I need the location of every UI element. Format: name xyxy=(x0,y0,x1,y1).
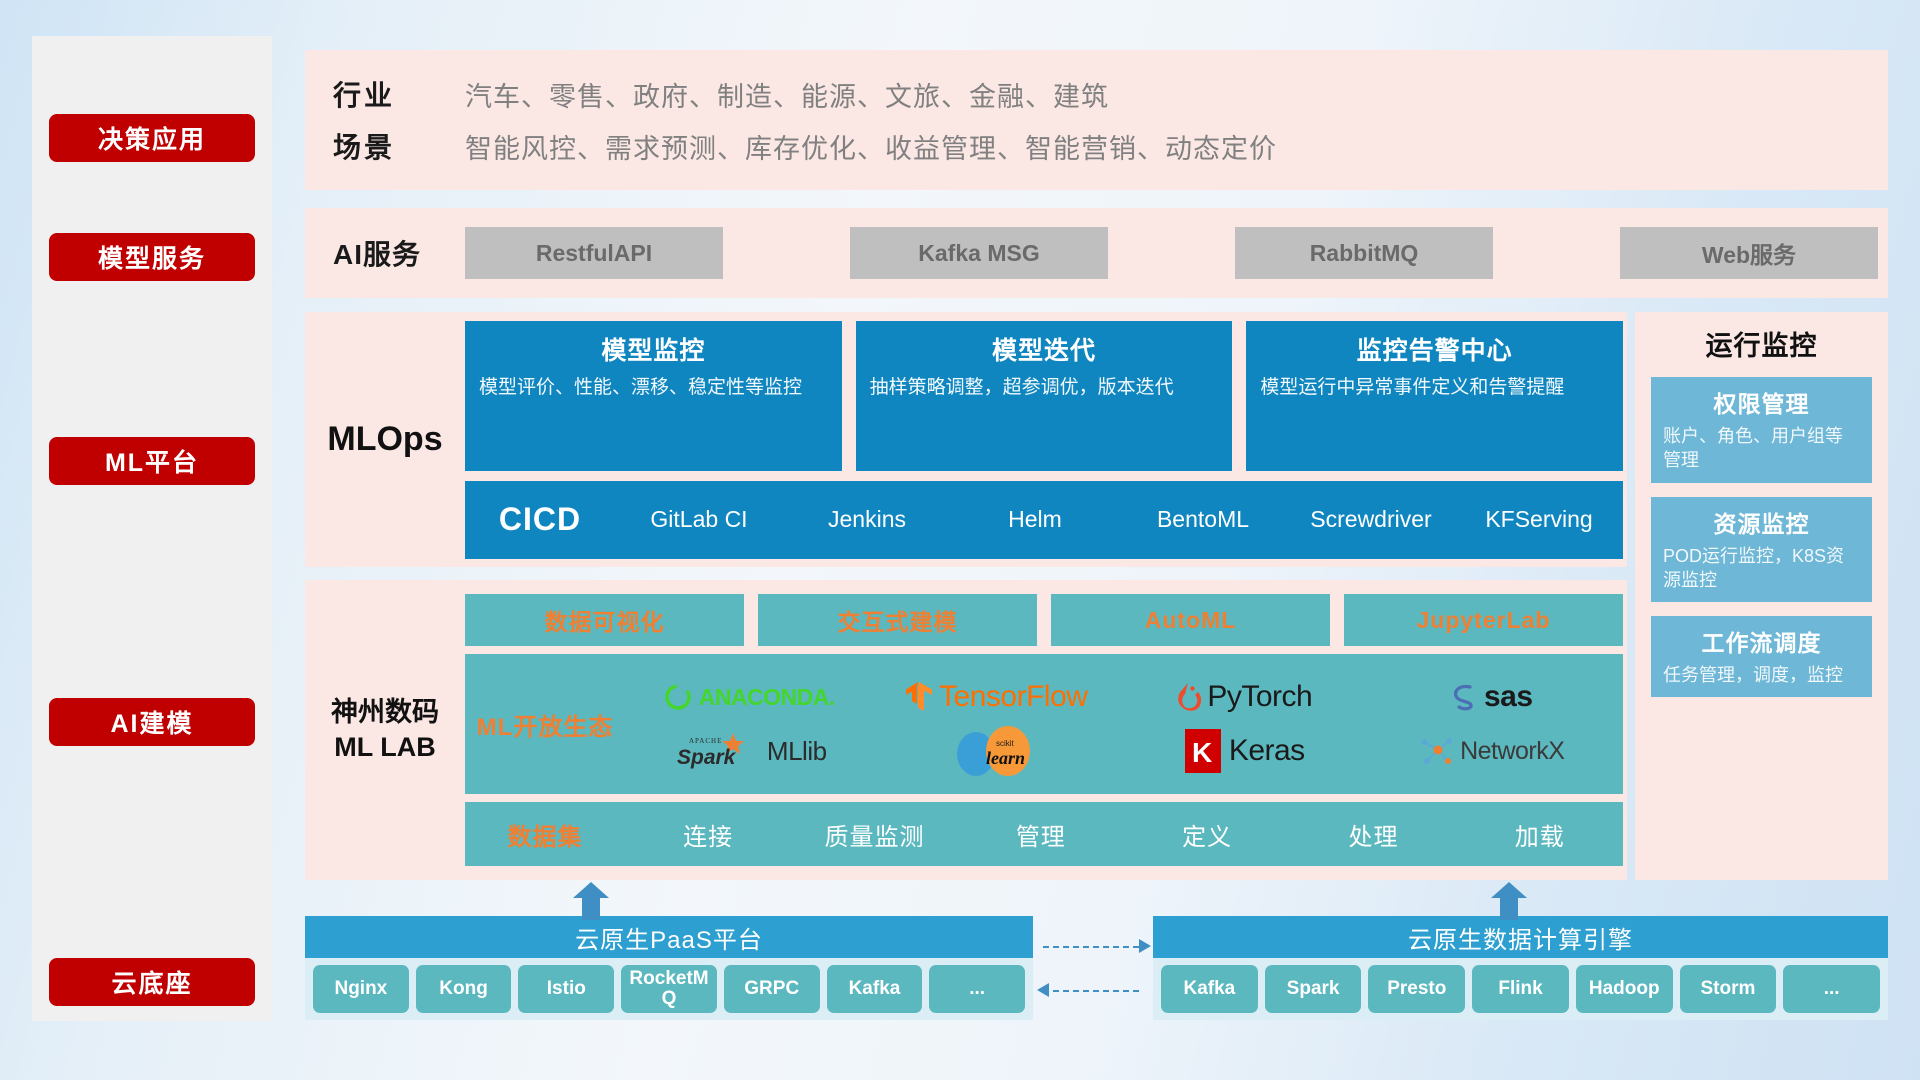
up-arrow-icon-engine xyxy=(1489,882,1529,920)
run-monitoring-panel: 运行监控 权限管理 账户、角色、用户组等管理 资源监控 POD运行监控，K8S资… xyxy=(1635,312,1888,880)
anaconda-wordmark: ANACONDA. xyxy=(699,684,835,711)
card-title: 监控告警中心 xyxy=(1260,331,1609,367)
ml-lab-tool-list: 数据可视化 交互式建模 AutoML JupyterLab xyxy=(465,594,1623,646)
ai-service-chip-web-service[interactable]: Web服务 xyxy=(1620,227,1878,279)
card-title: 工作流调度 xyxy=(1663,624,1860,658)
monitor-card-resource[interactable]: 资源监控 POD运行监控，K8S资源监控 xyxy=(1651,497,1872,603)
architecture-diagram: 行业 汽车、零售、政府、制造、能源、文旅、金融、建筑 场景 智能风控、需求预测、… xyxy=(305,50,1888,1020)
ai-service-chip-restfulapi[interactable]: RestfulAPI xyxy=(465,227,723,279)
tool-chip-data-visualization[interactable]: 数据可视化 xyxy=(465,594,744,646)
industry-label: 行业 xyxy=(333,74,465,114)
dataset-item-processing[interactable]: 处理 xyxy=(1290,817,1456,852)
ml-lab-content: 数据可视化 交互式建模 AutoML JupyterLab ML开放生态 ANA… xyxy=(465,594,1627,866)
dataset-item-connect[interactable]: 连接 xyxy=(625,817,791,852)
engine-chip-storm[interactable]: Storm xyxy=(1680,965,1777,1013)
spark-mllib-logo: APACHE Spark MLlib xyxy=(671,731,827,771)
anaconda-logo: ANACONDA. xyxy=(663,682,835,712)
ml-ecosystem-row: ML开放生态 ANACONDA. TensorFlow xyxy=(465,654,1623,794)
mlops-band: MLOps 模型监控 模型评价、性能、漂移、稳定性等监控 模型迭代 抽样策略调整… xyxy=(305,312,1627,567)
pytorch-wordmark: PyTorch xyxy=(1207,680,1312,714)
apache-spark-mark-icon: APACHE Spark xyxy=(671,731,761,771)
cicd-item-bentoml[interactable]: BentoML xyxy=(1119,507,1287,532)
cloud-chip-grpc[interactable]: GRPC xyxy=(724,965,820,1013)
card-desc: POD运行监控，K8S资源监控 xyxy=(1663,544,1860,593)
card-desc: 账户、角色、用户组等管理 xyxy=(1663,424,1860,473)
cloud-chip-more[interactable]: ... xyxy=(929,965,1025,1013)
mlops-content: 模型监控 模型评价、性能、漂移、稳定性等监控 模型迭代 抽样策略调整，超参调优，… xyxy=(465,321,1627,559)
tensorflow-mark-icon xyxy=(905,681,933,713)
cicd-item-gitlab-ci[interactable]: GitLab CI xyxy=(615,507,783,532)
scenario-label: 场景 xyxy=(333,126,465,166)
dataset-item-management[interactable]: 管理 xyxy=(958,817,1124,852)
scenario-value: 智能风控、需求预测、库存优化、收益管理、智能营销、动态定价 xyxy=(465,127,1277,166)
ml-lab-label-line2: ML LAB xyxy=(305,730,465,765)
cicd-item-screwdriver[interactable]: Screwdriver xyxy=(1287,507,1455,532)
mlops-card-list: 模型监控 模型评价、性能、漂移、稳定性等监控 模型迭代 抽样策略调整，超参调优，… xyxy=(465,321,1623,471)
cloud-native-paas-block: 云原生PaaS平台 Nginx Kong Istio RocketMQ GRPC… xyxy=(305,916,1033,1020)
mlops-card-model-iteration[interactable]: 模型迭代 抽样策略调整，超参调优，版本迭代 xyxy=(856,321,1233,471)
cloud-engine-chip-list: Kafka Spark Presto Flink Hadoop Storm ..… xyxy=(1153,958,1888,1020)
cloud-connector-arrows xyxy=(1035,934,1153,1004)
tool-chip-jupyterlab[interactable]: JupyterLab xyxy=(1344,594,1623,646)
cloud-paas-chip-list: Nginx Kong Istio RocketMQ GRPC Kafka ... xyxy=(305,958,1033,1020)
pytorch-logo: PyTorch xyxy=(1175,680,1312,714)
cicd-item-jenkins[interactable]: Jenkins xyxy=(783,507,951,532)
tensorflow-logo: TensorFlow xyxy=(905,680,1087,714)
svg-text:learn: learn xyxy=(986,748,1025,768)
dataset-item-quality-monitoring[interactable]: 质量监测 xyxy=(791,817,957,852)
mlops-label: MLOps xyxy=(305,420,465,459)
mlops-card-alert-center[interactable]: 监控告警中心 模型运行中异常事件定义和告警提醒 xyxy=(1246,321,1623,471)
svg-text:APACHE: APACHE xyxy=(689,737,722,745)
layer-rail: 决策应用 模型服务 ML平台 AI建模 云底座 xyxy=(32,36,272,1021)
cicd-label: CICD xyxy=(465,501,615,538)
mlops-card-model-monitoring[interactable]: 模型监控 模型评价、性能、漂移、稳定性等监控 xyxy=(465,321,842,471)
tool-chip-interactive-modeling[interactable]: 交互式建模 xyxy=(758,594,1037,646)
ai-service-chip-list: RestfulAPI Kafka MSG RabbitMQ Web服务 xyxy=(465,227,1888,279)
cloud-base-zone: 云原生PaaS平台 Nginx Kong Istio RocketMQ GRPC… xyxy=(305,898,1888,1020)
cicd-item-list: GitLab CI Jenkins Helm BentoML Screwdriv… xyxy=(615,507,1623,532)
arrow-head-right-icon xyxy=(1139,939,1151,953)
card-desc: 模型运行中异常事件定义和告警提醒 xyxy=(1260,375,1609,401)
sas-logo: sas xyxy=(1450,680,1533,714)
cloud-chip-rocketmq[interactable]: RocketMQ xyxy=(621,965,717,1013)
dataset-item-list: 连接 质量监测 管理 定义 处理 加载 xyxy=(625,817,1623,852)
monitor-card-permission[interactable]: 权限管理 账户、角色、用户组等管理 xyxy=(1651,377,1872,483)
industry-row: 行业 汽车、零售、政府、制造、能源、文旅、金融、建筑 xyxy=(333,68,1888,120)
dataset-label: 数据集 xyxy=(465,817,625,852)
cicd-item-kfserving[interactable]: KFServing xyxy=(1455,507,1623,532)
ai-service-chip-rabbitmq[interactable]: RabbitMQ xyxy=(1235,227,1493,279)
engine-chip-kafka[interactable]: Kafka xyxy=(1161,965,1258,1013)
dataset-item-loading[interactable]: 加载 xyxy=(1457,817,1623,852)
scenario-row: 场景 智能风控、需求预测、库存优化、收益管理、智能营销、动态定价 xyxy=(333,120,1888,172)
ml-ecosystem-logo-grid: ANACONDA. TensorFlow xyxy=(625,670,1623,778)
card-desc: 抽样策略调整，超参调优，版本迭代 xyxy=(870,375,1219,401)
dataset-item-definition[interactable]: 定义 xyxy=(1124,817,1290,852)
cloud-paas-title: 云原生PaaS平台 xyxy=(305,916,1033,958)
cloud-chip-kong[interactable]: Kong xyxy=(416,965,512,1013)
tool-chip-automl[interactable]: AutoML xyxy=(1051,594,1330,646)
networkx-logo: NetworkX xyxy=(1418,734,1564,768)
keras-mark-icon: K xyxy=(1183,728,1223,774)
card-title: 模型迭代 xyxy=(870,331,1219,367)
scikit-learn-mark-icon: scikit learn xyxy=(950,724,1042,778)
rail-item-model-service[interactable]: 模型服务 xyxy=(49,233,255,281)
ml-lab-band: 神州数码 ML LAB 数据可视化 交互式建模 AutoML JupyterLa… xyxy=(305,580,1627,880)
pytorch-flame-icon xyxy=(1175,681,1201,713)
ml-lab-label: 神州数码 ML LAB xyxy=(305,695,465,765)
up-arrow-icon-paas xyxy=(571,882,611,920)
svg-text:scikit: scikit xyxy=(996,739,1015,748)
engine-chip-presto[interactable]: Presto xyxy=(1368,965,1465,1013)
keras-wordmark: Keras xyxy=(1229,734,1305,768)
anaconda-mark-icon xyxy=(663,682,693,712)
svg-text:Spark: Spark xyxy=(677,746,737,769)
networkx-graph-icon xyxy=(1418,734,1454,768)
tensorflow-wordmark: TensorFlow xyxy=(939,680,1087,714)
dashed-line-right xyxy=(1043,946,1139,948)
dashed-line-left xyxy=(1043,990,1139,992)
sas-mark-icon xyxy=(1450,682,1478,712)
cicd-bar: CICD GitLab CI Jenkins Helm BentoML Scre… xyxy=(465,481,1623,559)
ai-service-label: AI服务 xyxy=(333,233,465,273)
card-desc: 模型评价、性能、漂移、稳定性等监控 xyxy=(479,375,828,401)
ai-service-chip-kafka-msg[interactable]: Kafka MSG xyxy=(850,227,1108,279)
engine-chip-spark[interactable]: Spark xyxy=(1265,965,1362,1013)
card-desc: 任务管理，调度，监控 xyxy=(1663,663,1860,687)
dataset-row: 数据集 连接 质量监测 管理 定义 处理 加载 xyxy=(465,802,1623,866)
industry-value: 汽车、零售、政府、制造、能源、文旅、金融、建筑 xyxy=(465,75,1109,114)
svg-text:K: K xyxy=(1192,737,1212,768)
card-title: 资源监控 xyxy=(1663,505,1860,539)
ml-ecosystem-label: ML开放生态 xyxy=(465,707,625,742)
scikit-learn-logo: scikit learn xyxy=(950,724,1042,778)
card-title: 模型监控 xyxy=(479,331,828,367)
ml-lab-label-line1: 神州数码 xyxy=(305,695,465,730)
engine-chip-flink[interactable]: Flink xyxy=(1472,965,1569,1013)
rail-item-cloud-base[interactable]: 云底座 xyxy=(49,958,255,1006)
industry-scenario-band: 行业 汽车、零售、政府、制造、能源、文旅、金融、建筑 场景 智能风控、需求预测、… xyxy=(305,50,1888,190)
keras-logo: K Keras xyxy=(1183,728,1305,774)
sas-wordmark: sas xyxy=(1484,680,1533,714)
rail-item-ml-platform[interactable]: ML平台 xyxy=(49,437,255,485)
engine-chip-hadoop[interactable]: Hadoop xyxy=(1576,965,1673,1013)
engine-chip-more[interactable]: ... xyxy=(1783,965,1880,1013)
rail-item-decision-app[interactable]: 决策应用 xyxy=(49,114,255,162)
cicd-item-helm[interactable]: Helm xyxy=(951,507,1119,532)
ai-service-band: AI服务 RestfulAPI Kafka MSG RabbitMQ Web服务 xyxy=(305,208,1888,298)
cloud-chip-kafka[interactable]: Kafka xyxy=(827,965,923,1013)
cloud-native-data-engine-block: 云原生数据计算引擎 Kafka Spark Presto Flink Hadoo… xyxy=(1153,916,1888,1020)
cloud-chip-istio[interactable]: Istio xyxy=(518,965,614,1013)
card-title: 权限管理 xyxy=(1663,385,1860,419)
mllib-wordmark: MLlib xyxy=(767,736,827,767)
cloud-engine-title: 云原生数据计算引擎 xyxy=(1153,916,1888,958)
networkx-wordmark: NetworkX xyxy=(1460,739,1564,764)
cloud-chip-nginx[interactable]: Nginx xyxy=(313,965,409,1013)
rail-item-ai-modeling[interactable]: AI建模 xyxy=(49,698,255,746)
run-monitoring-title: 运行监控 xyxy=(1651,324,1872,363)
monitor-card-workflow[interactable]: 工作流调度 任务管理，调度，监控 xyxy=(1651,616,1872,697)
arrow-head-left-icon xyxy=(1037,983,1049,997)
